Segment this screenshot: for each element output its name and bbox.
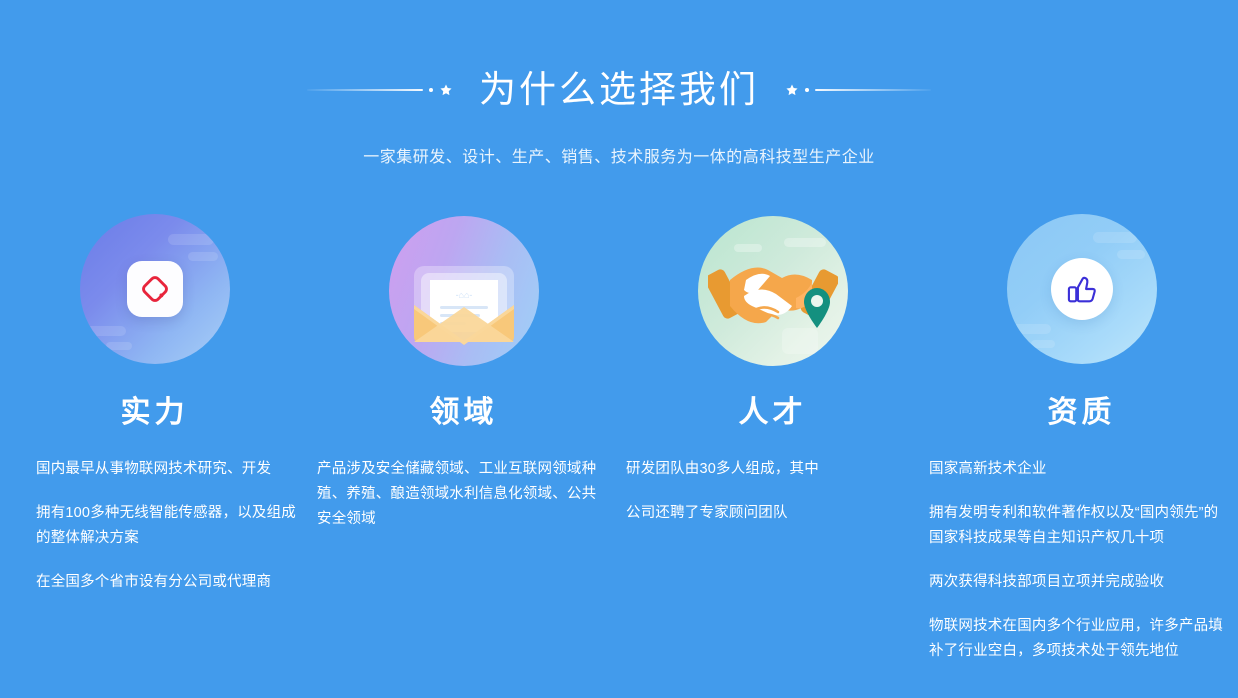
section-header: 为什么选择我们 一家集研发、设计、生产、销售、技术服务为一体的高科技型生产企业	[0, 0, 1238, 170]
decoration-dot-right	[805, 88, 809, 92]
title-decoration-right	[785, 80, 931, 100]
decorative-streak	[734, 244, 762, 252]
icon-circle-gradient-green	[698, 216, 848, 366]
icon-container	[0, 200, 309, 385]
decorative-streak	[782, 328, 818, 354]
icon-container	[618, 200, 927, 385]
decorative-streak	[1093, 232, 1137, 243]
body-paragraph: 拥有发明专利和软件著作权以及“国内领先”的国家科技成果等自主知识产权几十项	[929, 501, 1228, 551]
decorative-streak	[86, 326, 126, 336]
column-title: 领域	[309, 393, 618, 433]
body-paragraph: 在全国多个省市设有分公司或代理商	[36, 570, 297, 595]
column-body: 国内最早从事物联网技术研究、开发 拥有100多种无线智能传感器，以及组成的整体解…	[0, 457, 309, 595]
thumbs-up-icon	[1064, 271, 1100, 307]
icon-circle-gradient-blue	[1007, 214, 1157, 364]
decoration-line-left	[307, 89, 423, 91]
feature-column-strength: 实力 国内最早从事物联网技术研究、开发 拥有100多种无线智能传感器，以及组成的…	[0, 200, 309, 683]
body-paragraph: 两次获得科技部项目立项并完成验收	[929, 570, 1228, 595]
thumbs-up-badge	[1051, 258, 1113, 320]
decorative-streak	[1031, 340, 1055, 348]
column-title: 资质	[927, 393, 1236, 433]
column-body: 产品涉及安全储藏领域、工业互联网领域种殖、养殖、酿造领域水利信息化领域、公共安全…	[309, 457, 618, 532]
star-icon	[439, 83, 453, 97]
diamond-icon	[138, 272, 172, 306]
feature-columns: 实力 国内最早从事物联网技术研究、开发 拥有100多种无线智能传感器，以及组成的…	[0, 200, 1238, 683]
icon-circle-gradient-pink: -⌂⌂-	[389, 216, 539, 366]
feature-column-qualification: 资质 国家高新技术企业 拥有发明专利和软件著作权以及“国内领先”的国家科技成果等…	[927, 200, 1236, 683]
body-paragraph: 国家高新技术企业	[929, 457, 1228, 482]
feature-column-field: -⌂⌂- 领域 产品涉及安全储藏领域、工业互联网领域种殖、养殖、酿造领域水利信息…	[309, 200, 618, 683]
letter-placeholder-text: -⌂⌂-	[455, 290, 472, 300]
column-body: 国家高新技术企业 拥有发明专利和软件著作权以及“国内领先”的国家科技成果等自主知…	[927, 457, 1236, 664]
decorative-streak	[106, 342, 132, 350]
star-icon	[785, 83, 799, 97]
diamond-badge-icon	[127, 261, 183, 317]
body-paragraph: 国内最早从事物联网技术研究、开发	[36, 457, 297, 482]
title-decoration-left	[307, 80, 453, 100]
column-title: 人才	[618, 393, 927, 433]
body-paragraph: 物联网技术在国内多个行业应用，许多产品填补了行业空白，多项技术处于领先地位	[929, 614, 1228, 664]
title-row: 为什么选择我们	[0, 62, 1238, 118]
decorative-streak	[784, 238, 826, 247]
envelope-letter-icon: -⌂⌂-	[405, 249, 523, 349]
decoration-line-right	[815, 89, 931, 91]
body-paragraph: 公司还聘了专家顾问团队	[626, 501, 905, 526]
feature-column-talent: 人才 研发团队由30多人组成，其中 公司还聘了专家顾问团队	[618, 200, 927, 683]
page-subtitle: 一家集研发、设计、生产、销售、技术服务为一体的高科技型生产企业	[0, 146, 1238, 170]
handshake-icon	[708, 236, 838, 346]
icon-container	[927, 200, 1236, 385]
body-paragraph: 拥有100多种无线智能传感器，以及组成的整体解决方案	[36, 501, 297, 551]
body-paragraph: 产品涉及安全储藏领域、工业互联网领域种殖、养殖、酿造领域水利信息化领域、公共安全…	[317, 457, 610, 532]
icon-container: -⌂⌂-	[309, 200, 618, 385]
page-title: 为什么选择我们	[479, 67, 759, 113]
body-paragraph: 研发团队由30多人组成，其中	[626, 457, 905, 482]
icon-circle-gradient-purple	[80, 214, 230, 364]
decoration-dot-left	[429, 88, 433, 92]
column-title: 实力	[0, 393, 309, 433]
decorative-streak	[1117, 250, 1145, 259]
decorative-streak	[1011, 324, 1051, 334]
decorative-streak	[188, 252, 218, 261]
decorative-streak	[168, 234, 214, 245]
column-body: 研发团队由30多人组成，其中 公司还聘了专家顾问团队	[618, 457, 927, 526]
